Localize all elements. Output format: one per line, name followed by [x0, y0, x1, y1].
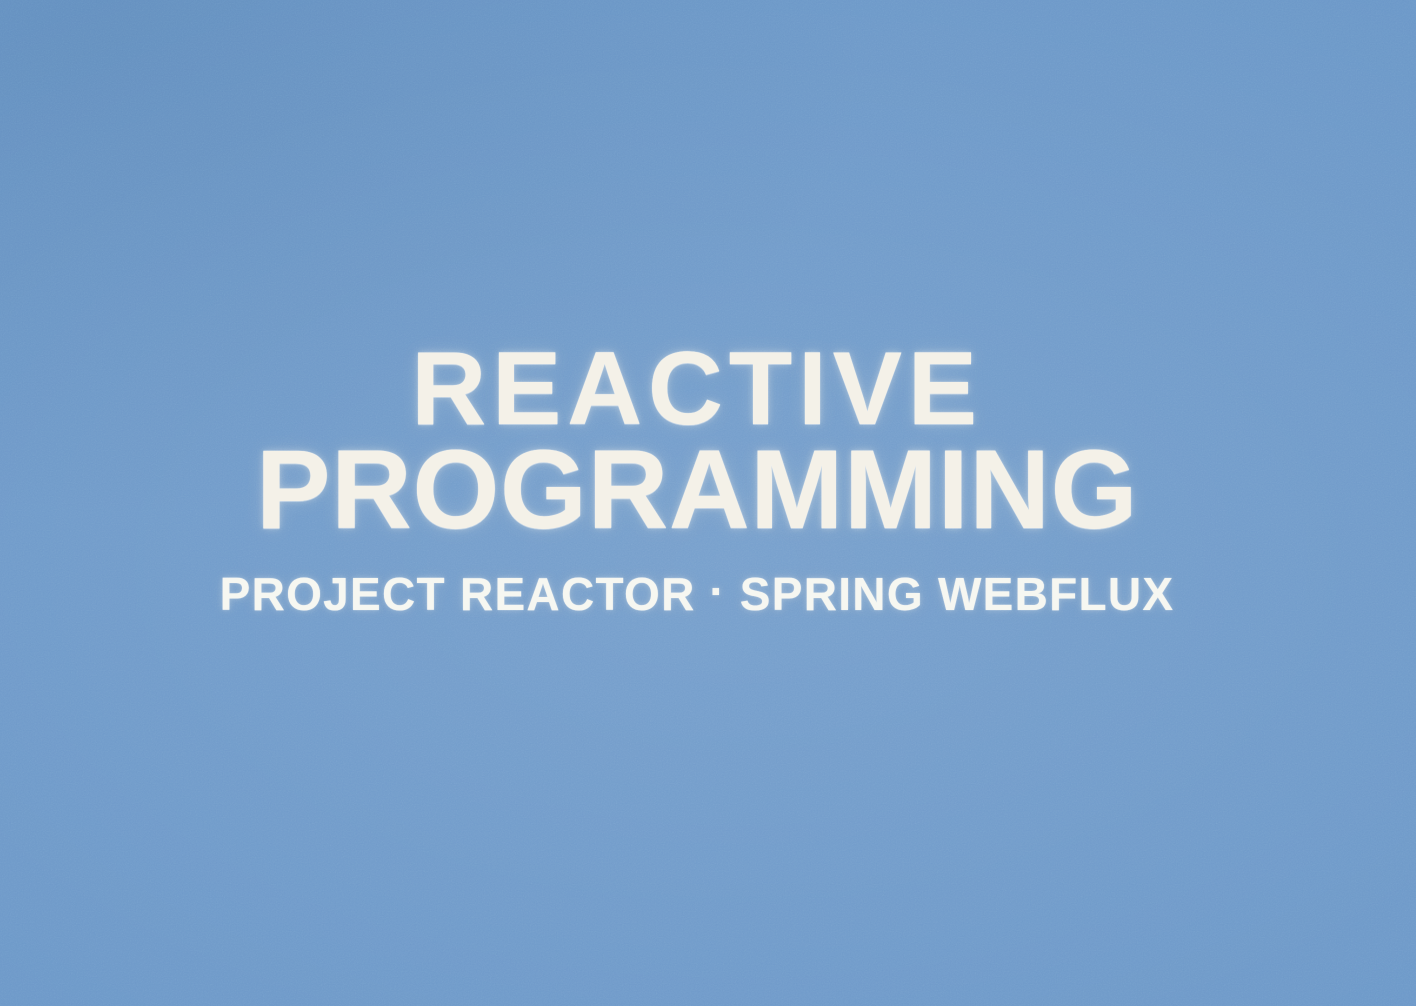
slide-content-block: REACTIVE PROGRAMMING PROJECT REACTOR·SPR…	[0, 338, 1405, 618]
title-line-reactive: REACTIVE	[256, 338, 1138, 441]
subtitle-spring-webflux: SPRING WEBFLUX	[740, 568, 1175, 620]
subtitle-separator-dot: ·	[696, 567, 740, 615]
title-line-programming: PROGRAMMING	[256, 435, 1138, 546]
slide-subtitle: PROJECT REACTOR·SPRING WEBFLUX	[220, 570, 1175, 618]
slide-title: REACTIVE PROGRAMMING	[256, 338, 1138, 546]
title-slide: REACTIVE PROGRAMMING PROJECT REACTOR·SPR…	[0, 0, 1416, 1006]
subtitle-project-reactor: PROJECT REACTOR	[220, 568, 696, 620]
